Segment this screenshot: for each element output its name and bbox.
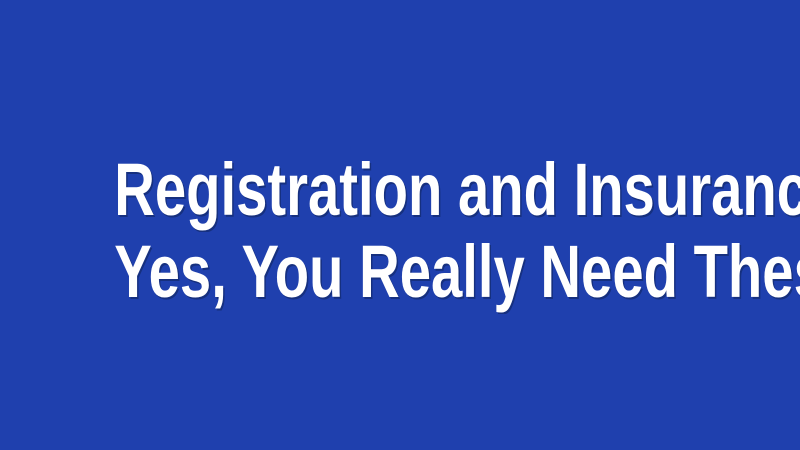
title-slide: Registration and Insurance: Yes, You Rea… <box>0 0 800 450</box>
title-line-2: Yes, You Really Need These <box>114 231 686 313</box>
page-title: Registration and Insurance: Yes, You Rea… <box>0 149 800 313</box>
title-line-1: Registration and Insurance: <box>114 149 686 231</box>
